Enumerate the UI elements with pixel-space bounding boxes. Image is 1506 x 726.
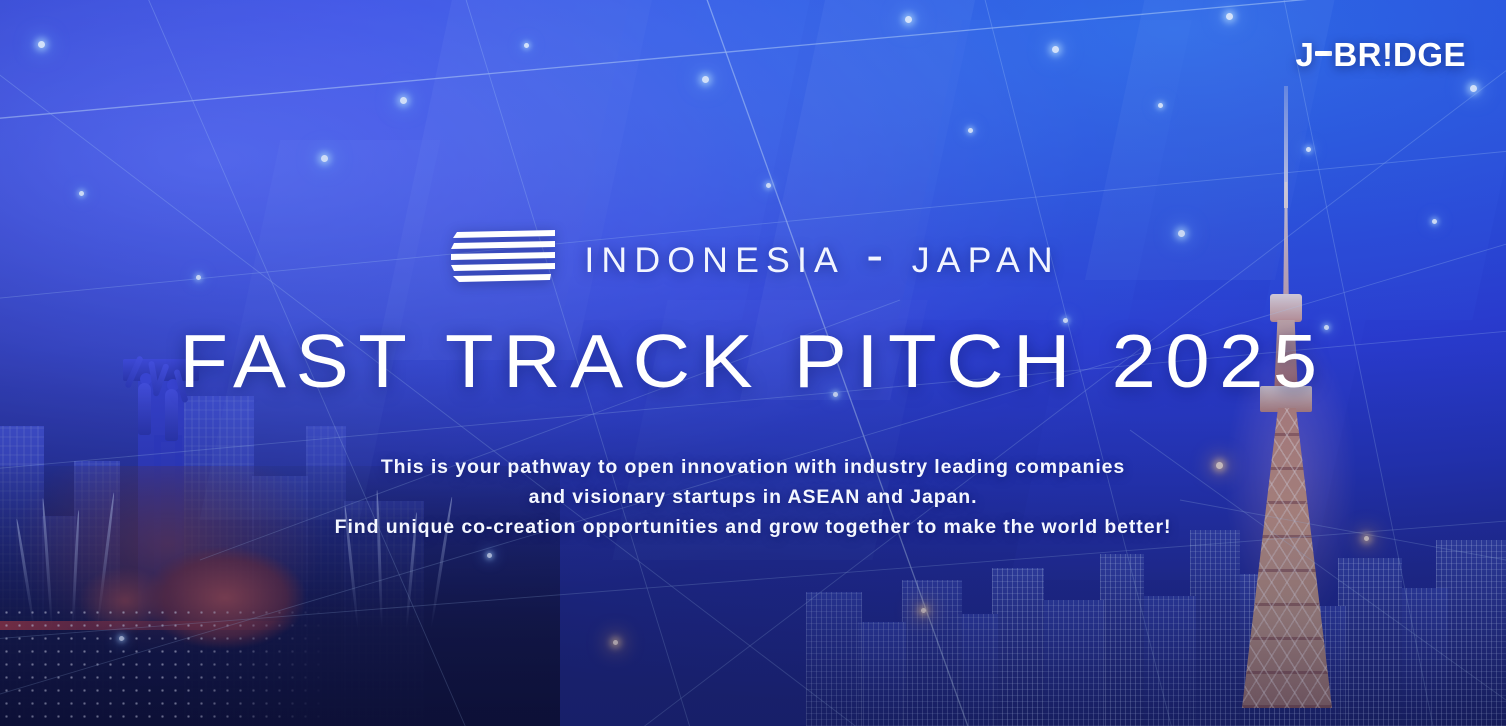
tagline-line-3: Find unique co-creation opportunities an… — [0, 512, 1506, 542]
tagline-line-2: and visionary startups in ASEAN and Japa… — [0, 482, 1506, 512]
country-subline: Indonesia - Japan — [0, 226, 1506, 284]
logo-part-dge: DGE — [1393, 36, 1466, 74]
tagline-line-1: This is your pathway to open innovation … — [0, 452, 1506, 482]
bridge-dash-icon — [1315, 51, 1332, 56]
tagline-block: This is your pathway to open innovation … — [0, 452, 1506, 542]
country-title: Indonesia - Japan — [584, 226, 1060, 284]
logo-exclamation-icon: ! — [1382, 36, 1393, 74]
jbridge-logo[interactable]: J BR ! DGE — [1295, 36, 1466, 74]
banner-content: J BR ! DGE Indonesia - Japan FAST TRACK … — [0, 0, 1506, 726]
page-title: FAST TRACK PITCH 2025 — [0, 318, 1506, 404]
logo-part-j: J — [1295, 36, 1314, 74]
hero-banner: J BR ! DGE Indonesia - Japan FAST TRACK … — [0, 0, 1506, 726]
speed-lines-icon — [451, 228, 559, 282]
logo-part-br: BR — [1333, 36, 1382, 74]
